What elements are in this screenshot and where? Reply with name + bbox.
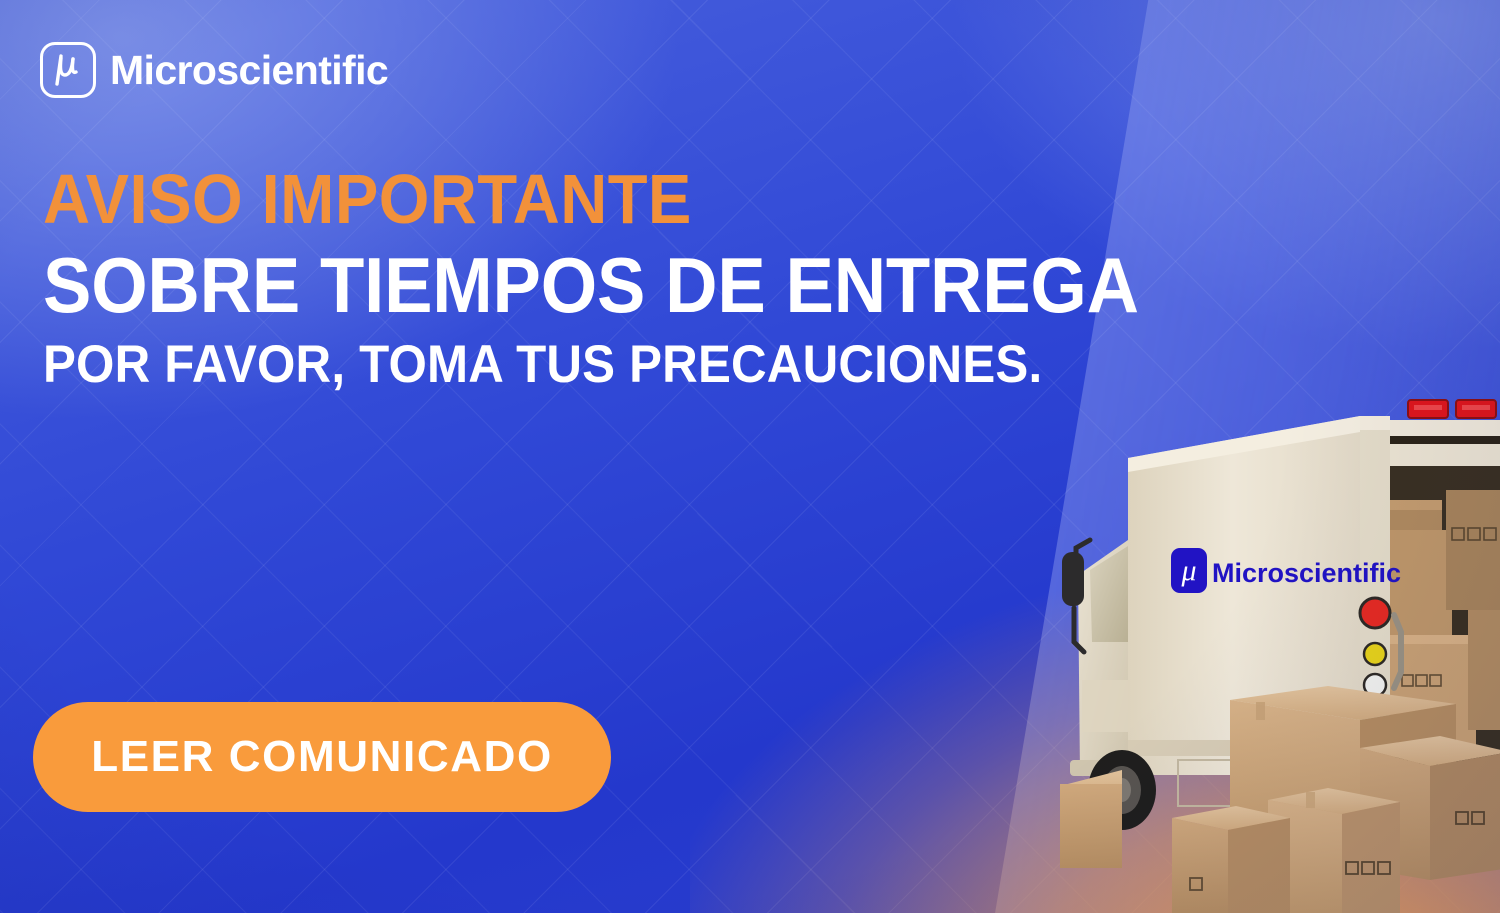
delivery-truck-illustration: μ Microscientific [1060, 380, 1500, 913]
box-left-low [1172, 806, 1290, 913]
svg-text:Microscientific: Microscientific [1212, 558, 1401, 588]
brand-logo[interactable]: Microscientific [40, 42, 388, 98]
svg-text:μ: μ [1180, 554, 1196, 587]
roof-marker-lights [1408, 400, 1496, 418]
mu-logo-icon [40, 42, 96, 98]
headline-block: AVISO IMPORTANTE SOBRE TIEMPOS DE ENTREG… [43, 164, 1333, 391]
truck-cab [1062, 540, 1132, 776]
headline-line-1: AVISO IMPORTANTE [43, 164, 1243, 234]
read-statement-button[interactable]: LEER COMUNICADO [33, 702, 611, 812]
box-back-left [1060, 770, 1122, 868]
promo-banner: μ Microscientific [0, 0, 1500, 913]
brand-wordmark: Microscientific [110, 47, 388, 94]
headline-line-2: SOBRE TIEMPOS DE ENTREGA [43, 246, 1243, 324]
headline-line-3: POR FAVOR, TOMA TUS PRECAUCIONES. [43, 338, 1243, 391]
